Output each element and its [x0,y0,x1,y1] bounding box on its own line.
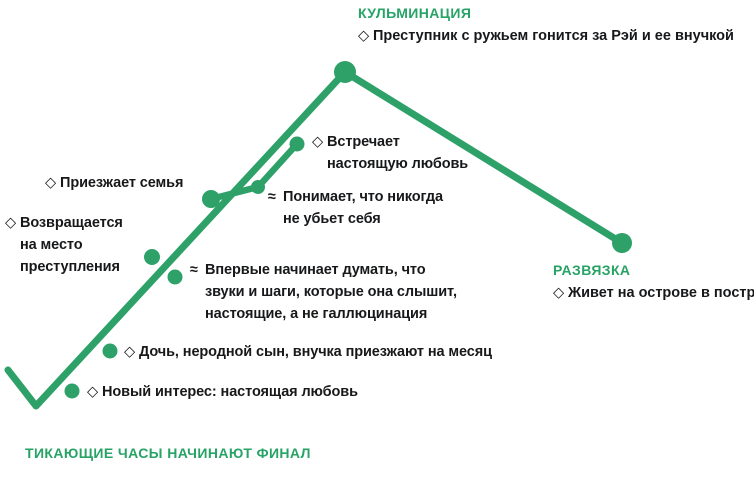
beat-marker-sounds-real [168,270,183,285]
beat-marker-resolution [612,233,632,253]
beat-marker-never-kill-herself [251,180,265,194]
beat-family-arrives: ◇Приезжает семья [60,172,183,194]
climax-line-1: Преступник с ружьем гонится за Рэй [373,28,638,44]
beat-returns-line-3: преступления [20,256,123,278]
ticking-clock-line-2: НАЧИНАЮТ ФИНАЛ [167,445,311,461]
climax-line-2: и ее внучкой [642,28,734,44]
approx-bullet-icon: ≈ [190,259,205,281]
beat-returns-to-crime-scene: ◇Возвращается на место преступления [20,212,123,278]
diamond-bullet-icon: ◇ [124,341,139,363]
resolution-title: РАЗВЯЗКА [553,260,754,280]
diamond-bullet-icon: ◇ [312,131,327,153]
diamond-bullet-icon: ◇ [5,212,20,234]
story-arc-diagram: КУЛЬМИНАЦИЯ ◇ Преступник с ружьем гонитс… [0,0,754,492]
diamond-bullet-icon: ◇ [553,282,564,304]
resolution-line-1: Живет на острове [568,285,697,301]
resolution-body: ◇ Живет на острове в построенном ею доме… [553,282,754,304]
beat-marker-climax [334,61,356,83]
climax-body: ◇ Преступник с ружьем гонится за Рэй и е… [358,25,734,47]
diamond-bullet-icon: ◇ [87,381,102,403]
beat-returns-line-2: на место [20,234,123,256]
climax-title: КУЛЬМИНАЦИЯ [358,3,734,23]
beat-sounds-line-2: звуки и шаги, которые она слышит, [205,281,457,303]
beat-new-interest-line-1: Новый интерес: настоящая любовь [102,384,358,400]
beat-marker-returns-crime-scene [144,249,160,265]
beat-meets-true-love-line-2: настоящую любовь [327,153,468,175]
diamond-bullet-icon: ◇ [358,25,369,47]
beat-sounds-are-real: ≈Впервые начинает думать, что звуки и ша… [205,259,457,325]
approx-bullet-icon: ≈ [268,186,283,208]
climax-annotation: КУЛЬМИНАЦИЯ ◇ Преступник с ружьем гонитс… [358,3,734,47]
beat-meets-true-love: ◇Встречает настоящую любовь [327,131,468,175]
beat-sounds-line-1: Впервые начинает думать, что [205,262,425,278]
resolution-annotation: РАЗВЯЗКА ◇ Живет на острове в построенно… [553,260,754,304]
beat-new-interest-true-love: ◇Новый интерес: настоящая любовь [102,381,358,403]
ticking-clock-title: ТИКАЮЩИЕ ЧАСЫ НАЧИНАЮТ ФИНАЛ [25,444,311,463]
beat-never-kill-herself-line-1: Понимает, что никогда [283,189,443,205]
beat-marker-meets-true-love [290,137,305,152]
beat-meets-true-love-line-1: Встречает [327,134,400,150]
beat-relatives-visit-month: ◇Дочь, неродной сын, внучка приезжают на… [139,341,492,363]
beat-never-kill-herself: ≈Понимает, что никогда не убьет себя [283,186,443,230]
ticking-clock-line-1: ТИКАЮЩИЕ ЧАСЫ [25,445,163,461]
beat-returns-line-1: Возвращается [20,215,123,231]
beat-marker-relatives-visit [103,344,118,359]
beat-marker-family-arrives [202,190,220,208]
beat-relatives-line-1: Дочь, неродной сын, внучка приезжают на … [139,344,492,360]
diamond-bullet-icon: ◇ [45,172,60,194]
beat-marker-new-interest [65,384,80,399]
resolution-line-2: в построенном ею [701,285,754,301]
beat-sounds-line-3: настоящие, а не галлюцинация [205,303,457,325]
beat-family-arrives-line-1: Приезжает семья [60,175,183,191]
beat-never-kill-herself-line-2: не убьет себя [283,208,443,230]
